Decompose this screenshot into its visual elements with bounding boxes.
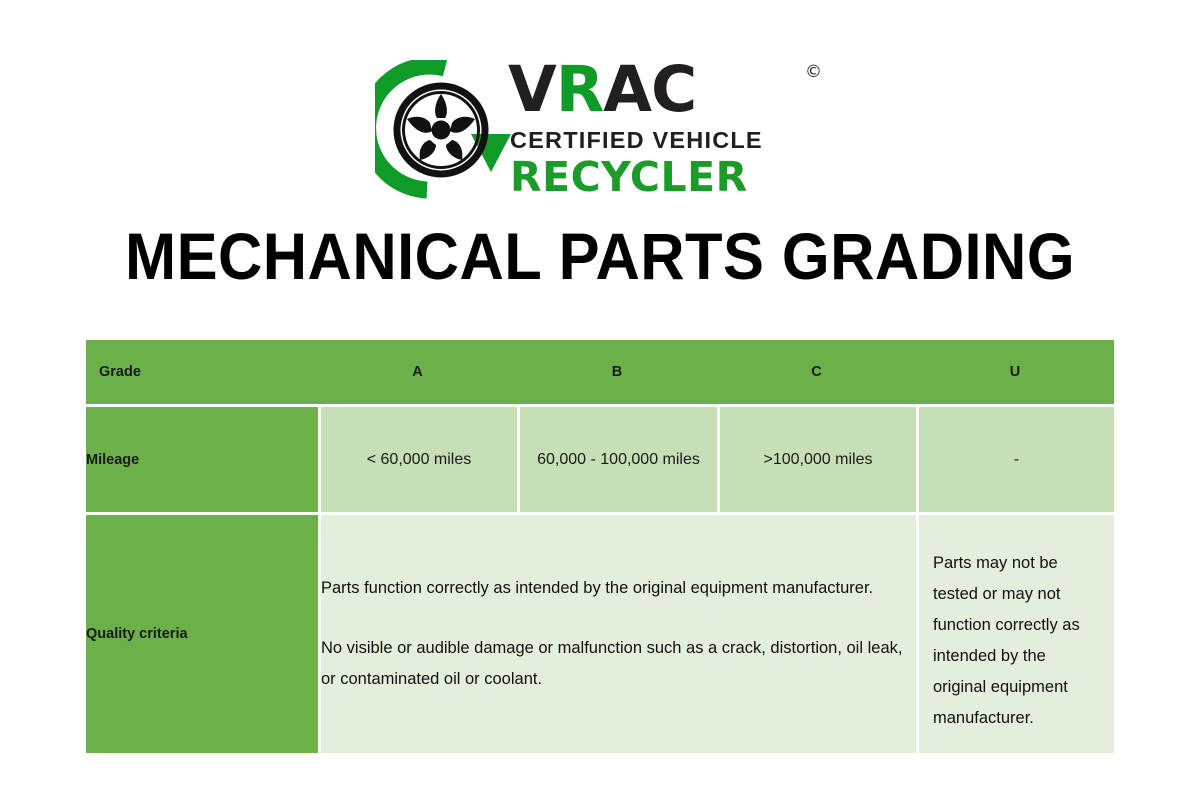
- logo-subbrand: RECYCLER: [510, 153, 748, 201]
- quality-criteria-grade-u: Parts may not be tested or may not funct…: [916, 512, 1114, 753]
- logo-wordmark: VRAC © CERTIFIED VEHICLE RECYCLER: [508, 55, 838, 205]
- vrac-logo: VRAC © CERTIFIED VEHICLE RECYCLER: [375, 55, 835, 205]
- logo-tagline: CERTIFIED VEHICLE: [510, 127, 763, 154]
- column-header-c: C: [717, 340, 916, 404]
- brand-letter-r: R: [556, 53, 604, 126]
- quality-criteria-paragraph-2: No visible or audible damage or malfunct…: [321, 633, 916, 695]
- copyright-icon: ©: [805, 62, 822, 82]
- table-header-row: Grade A B C U: [86, 340, 1114, 404]
- quality-criteria-grades-abc: Parts function correctly as intended by …: [318, 512, 916, 753]
- row-label-quality-criteria: Quality criteria: [86, 512, 318, 753]
- mileage-grade-c: >100,000 miles: [717, 404, 916, 512]
- recycling-wheel-icon: [375, 60, 515, 200]
- mileage-grade-u: -: [916, 404, 1114, 512]
- table-row-quality-criteria: Quality criteria Parts function correctl…: [86, 512, 1114, 753]
- table-row-mileage: Mileage < 60,000 miles 60,000 - 100,000 …: [86, 404, 1114, 512]
- mileage-grade-b: 60,000 - 100,000 miles: [517, 404, 717, 512]
- mechanical-parts-grading-table: Grade A B C U Mileage < 60,000 miles 60,…: [86, 340, 1114, 753]
- column-header-grade: Grade: [86, 340, 318, 404]
- brand-letters-ac: AC: [603, 53, 696, 126]
- row-label-mileage: Mileage: [86, 404, 318, 512]
- column-header-b: B: [517, 340, 717, 404]
- brand-letter-v: V: [508, 53, 556, 126]
- column-header-a: A: [318, 340, 517, 404]
- page-title: MECHANICAL PARTS GRADING: [42, 215, 1158, 297]
- mileage-grade-a: < 60,000 miles: [318, 404, 517, 512]
- column-header-u: U: [916, 340, 1114, 404]
- brand-name: VRAC: [508, 58, 696, 121]
- quality-criteria-paragraph-1: Parts function correctly as intended by …: [321, 573, 916, 604]
